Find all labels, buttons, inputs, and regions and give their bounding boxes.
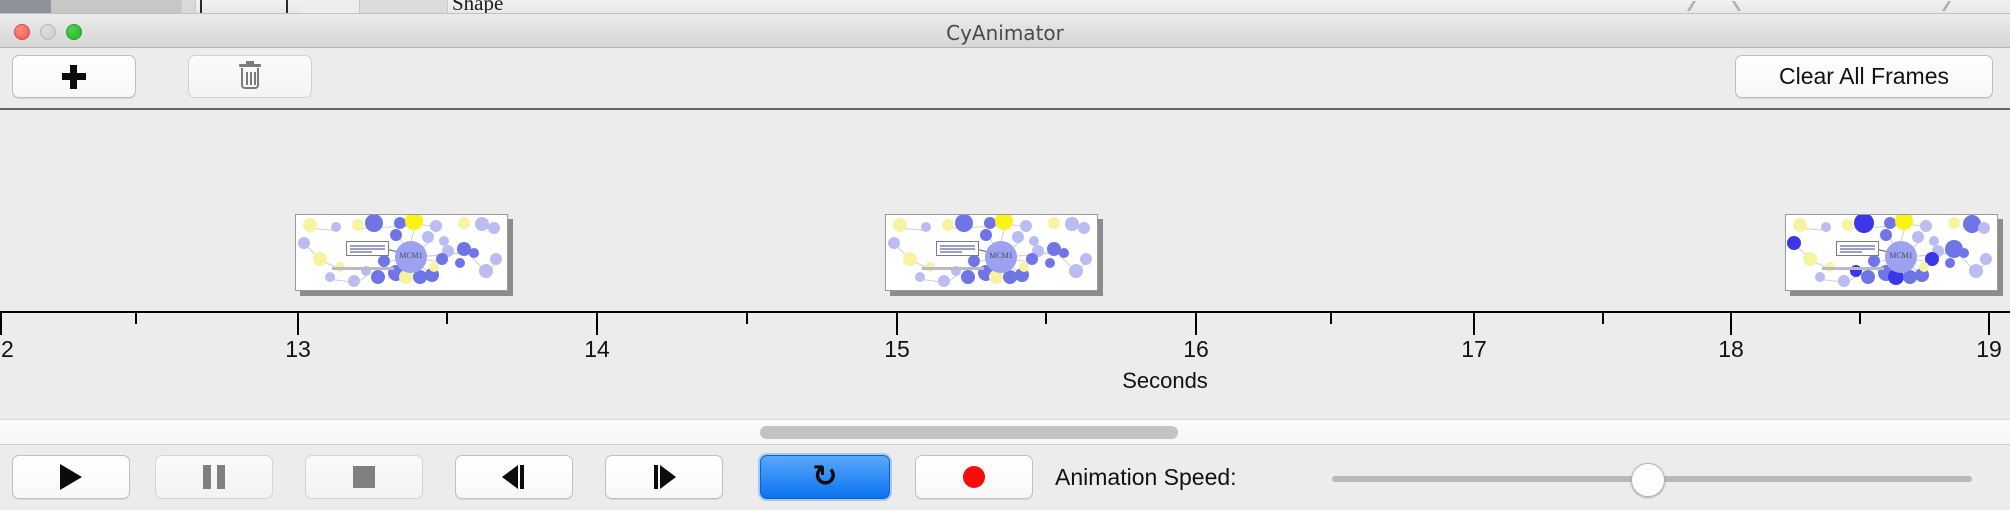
network-node [1048,217,1060,229]
node-tooltip [346,241,389,256]
thumbnail-canvas: MCM1 [885,214,1098,291]
axis-tick-major [1988,313,1990,335]
axis-tick-label: 15 [884,336,910,363]
network-node [313,252,327,266]
hub-node-label: MCM1 [1885,251,1917,260]
axis-tick-label: 16 [1183,336,1209,363]
network-node [365,214,383,232]
axis-tick-major [1473,313,1475,335]
skip-to-start-button[interactable] [455,455,573,499]
axis-tick-label: 18 [1718,336,1744,363]
add-frame-button[interactable] [12,55,136,98]
record-icon [963,466,985,488]
network-node [1012,231,1024,243]
network-node [1019,262,1029,272]
axis-tick-label: 14 [584,336,610,363]
loop-toggle-button[interactable]: ↻ [760,455,890,499]
pause-icon [203,465,225,489]
network-node [1787,236,1801,250]
network-node [1838,275,1850,287]
network-node [1080,253,1092,265]
background-shape-label: Shape [452,0,503,13]
record-button[interactable] [915,455,1033,499]
network-node [1803,252,1817,266]
background-window-strip: Shape [0,0,2010,13]
delete-frame-button[interactable] [188,55,312,98]
axis-tick-major [297,313,299,335]
network-node [893,218,907,232]
network-node [1045,258,1055,268]
hub-node-label: MCM1 [985,251,1017,260]
hub-node-label: MCM1 [395,251,427,260]
thumbnail-caption-text [1822,267,1884,270]
pause-button[interactable] [155,455,273,499]
axis-title: Seconds [1122,368,1208,394]
network-node [1020,220,1032,232]
network-node [1861,270,1875,284]
network-node [995,214,1013,230]
network-node [378,255,390,267]
network-node [1078,222,1090,234]
axis-tick-label: 13 [285,336,311,363]
network-node [1969,264,1983,278]
network-node [422,231,434,243]
network-node [1959,248,1969,258]
loop-icon: ↻ [812,462,837,492]
network-node [903,252,917,266]
axis-tick-minor [1045,313,1047,324]
timeline-frame-thumbnail[interactable]: MCM1 [1785,214,2003,294]
thumbnail-canvas: MCM1 [295,214,508,291]
network-node [1919,262,1929,272]
cyanimator-window: Shape CyAnimator Clear All Frames [0,0,2010,510]
stop-icon [353,466,375,488]
network-node [1842,219,1854,231]
network-node [1980,253,1992,265]
network-node [303,218,317,232]
timeline-frame-thumbnail[interactable]: MCM1 [295,214,513,294]
network-node [961,270,975,284]
network-node [1895,214,1913,230]
node-tooltip [936,241,979,256]
axis-tick-label: 19 [1976,336,2002,363]
frame-toolbar: Clear All Frames [0,48,2010,108]
network-node [1868,255,1880,267]
playback-toolbar: ↻ Animation Speed: [0,446,2010,510]
skip-to-end-button[interactable] [605,455,723,499]
timeline-axis-line [0,311,2010,313]
network-node [458,217,470,229]
clear-all-frames-label: Clear All Frames [1779,63,1949,90]
axis-tick-minor [1330,313,1332,324]
network-node [1978,222,1990,234]
axis-tick-minor [746,313,748,324]
axis-tick-major [596,313,598,335]
network-node [1065,217,1079,231]
axis-tick-major [0,313,2,335]
thumbnail-caption-text [922,267,984,270]
network-node [980,229,992,241]
play-button[interactable] [12,455,130,499]
network-node [888,237,900,249]
network-node [348,275,360,287]
network-node [1793,218,1807,232]
axis-tick-major [896,313,898,335]
stop-button[interactable] [305,455,423,499]
plus-icon [62,65,86,89]
network-node [371,270,385,284]
network-graph: MCM1 [886,215,1097,290]
network-graph: MCM1 [1786,215,1997,290]
network-node [405,214,423,230]
network-node [469,248,479,258]
timeline-scrollbar[interactable] [0,419,2010,445]
network-node [390,229,402,241]
network-node [915,272,925,282]
network-node [298,237,310,249]
skip-forward-icon [652,465,676,489]
axis-tick-minor [446,313,448,324]
network-node [955,214,973,232]
network-node [488,222,500,234]
network-node [429,262,439,272]
network-node [1945,258,1955,268]
network-node [1854,214,1874,233]
network-node [1815,272,1825,282]
title-bar: CyAnimator [0,14,2010,48]
axis-tick-major [1195,313,1197,335]
network-node [1912,231,1924,243]
axis-tick-minor [1859,313,1861,324]
node-tooltip [1836,241,1879,256]
network-node [331,222,341,232]
axis-tick-minor [1602,313,1604,324]
axis-tick-minor [135,313,137,324]
network-node [455,258,465,268]
thumbnail-canvas: MCM1 [1785,214,1998,291]
network-node [938,275,950,287]
network-node [968,255,980,267]
network-graph: MCM1 [296,215,507,290]
network-node [942,219,954,231]
network-node [1069,264,1083,278]
network-node [479,264,493,278]
trash-icon [239,64,261,90]
timeline-frame-thumbnail[interactable]: MCM1 [885,214,1103,294]
thumbnail-caption-text [332,267,394,270]
window-title: CyAnimator [0,21,2010,45]
axis-tick-label: 12 [0,336,14,363]
network-node [1059,248,1069,258]
network-node [430,220,442,232]
axis-tick-label: 17 [1461,336,1487,363]
network-node [1920,220,1932,232]
axis-tick-major [1730,313,1732,335]
network-node [475,217,489,231]
skip-back-icon [502,465,526,489]
animation-speed-slider-thumb[interactable] [1631,463,1665,497]
network-node [490,253,502,265]
timeline-scrollbar-thumb[interactable] [760,426,1178,439]
network-node [352,219,364,231]
play-icon [60,464,82,490]
network-node [325,272,335,282]
animation-speed-label: Animation Speed: [1055,464,1237,491]
network-node [1948,217,1960,229]
network-node [1821,222,1831,232]
network-node [921,222,931,232]
clear-all-frames-button[interactable]: Clear All Frames [1735,55,1993,98]
network-node [1880,229,1892,241]
